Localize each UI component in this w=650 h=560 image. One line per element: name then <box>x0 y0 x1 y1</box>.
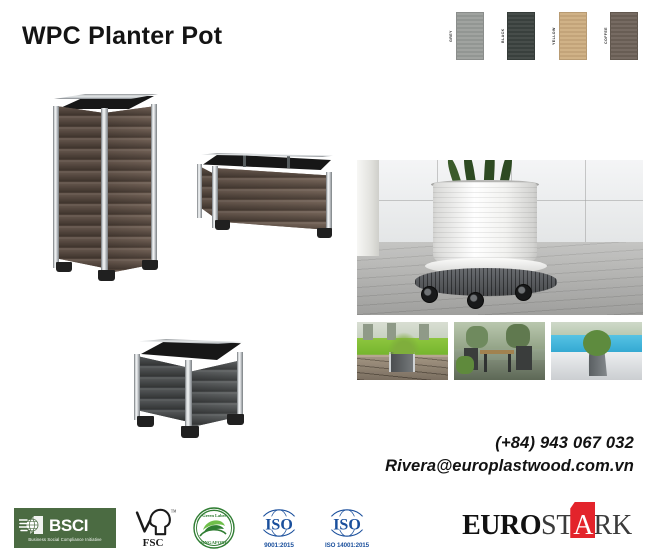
hero-photo <box>357 160 643 315</box>
fsc-badge: TM FSC <box>130 507 176 549</box>
logo-euro-text: EURO <box>462 510 541 542</box>
swatch-black[interactable]: BLACK <box>502 12 536 60</box>
caddy-wheel <box>467 292 484 309</box>
bsci-subtitle: Business Social Compliance Initiative <box>19 537 111 542</box>
cube-planter-image <box>131 336 249 446</box>
poster-root: WPC Planter Pot GREY BLACK YELLOW COFFEE <box>0 0 650 560</box>
swatch-chip-black[interactable] <box>507 12 535 60</box>
curtain <box>357 160 379 256</box>
certification-badges: BSCI Business Social Compliance Initiati… <box>14 506 374 550</box>
svg-text:ISO: ISO <box>333 517 361 534</box>
iso-9001-label: 9001:2015 <box>252 542 306 549</box>
white-ceramic-pot <box>433 182 537 264</box>
caddy-wheel <box>421 286 438 303</box>
planter-in-thumb <box>389 352 415 372</box>
thumbnail-strip <box>357 322 642 380</box>
green-label-singapore-badge: Green Label SINGAPORE <box>190 506 238 550</box>
contact-email[interactable]: Rivera@europlastwood.com.vn <box>385 455 634 478</box>
iso-14001-label: ISO 14001:2015 <box>320 542 374 549</box>
swatch-yellow[interactable]: YELLOW <box>553 12 587 60</box>
swatch-label-coffee: COFFEE <box>605 23 609 49</box>
contact-phone[interactable]: (+84) 943 067 032 <box>385 432 634 455</box>
contact-block: (+84) 943 067 032 Rivera@europlastwood.c… <box>385 432 634 479</box>
swatch-chip-coffee[interactable] <box>610 12 638 60</box>
thumb-topiary-pool[interactable] <box>551 322 642 380</box>
iso-14001-badge: ISO ISO 14001:2015 <box>320 507 374 549</box>
iso-globe-icon: ISO <box>320 526 374 543</box>
caddy-wheel <box>515 284 532 301</box>
swatch-coffee[interactable]: COFFEE <box>605 12 639 60</box>
swatch-grey[interactable]: GREY <box>450 12 484 60</box>
fsc-label: FSC <box>130 537 176 549</box>
swatch-label-grey: GREY <box>450 23 454 49</box>
swatch-chip-yellow[interactable] <box>559 12 587 60</box>
thumb-patio-set[interactable] <box>454 322 545 380</box>
logo-rk-text: RK <box>594 510 633 542</box>
svg-text:TM: TM <box>171 510 176 514</box>
bsci-badge: BSCI Business Social Compliance Initiati… <box>14 508 116 548</box>
svg-text:Green Label: Green Label <box>202 513 226 518</box>
thumb-grass-planter[interactable] <box>357 322 448 380</box>
trough-planter-image <box>197 152 337 244</box>
logo-a-text: A <box>573 510 593 541</box>
swatch-label-black: BLACK <box>502 23 506 49</box>
page-title: WPC Planter Pot <box>22 22 222 51</box>
eurostark-logo: EURO ST A RK <box>462 510 632 542</box>
bsci-label: BSCI <box>49 517 88 534</box>
logo-st-text: ST <box>541 510 573 542</box>
bsci-globe-icon <box>19 515 45 535</box>
tall-planter-image <box>50 92 162 284</box>
color-swatch-bar: GREY BLACK YELLOW COFFEE <box>450 12 638 60</box>
iso-9001-badge: ISO 9001:2015 <box>252 507 306 549</box>
swatch-chip-grey[interactable] <box>456 12 484 60</box>
swatch-label-yellow: YELLOW <box>553 23 557 49</box>
svg-text:SINGAPORE: SINGAPORE <box>200 540 227 545</box>
iso-globe-icon: ISO <box>252 526 306 543</box>
svg-text:ISO: ISO <box>265 517 293 534</box>
green-label-icon: Green Label SINGAPORE <box>190 537 238 554</box>
logo-accent-wrap: A <box>573 510 593 542</box>
